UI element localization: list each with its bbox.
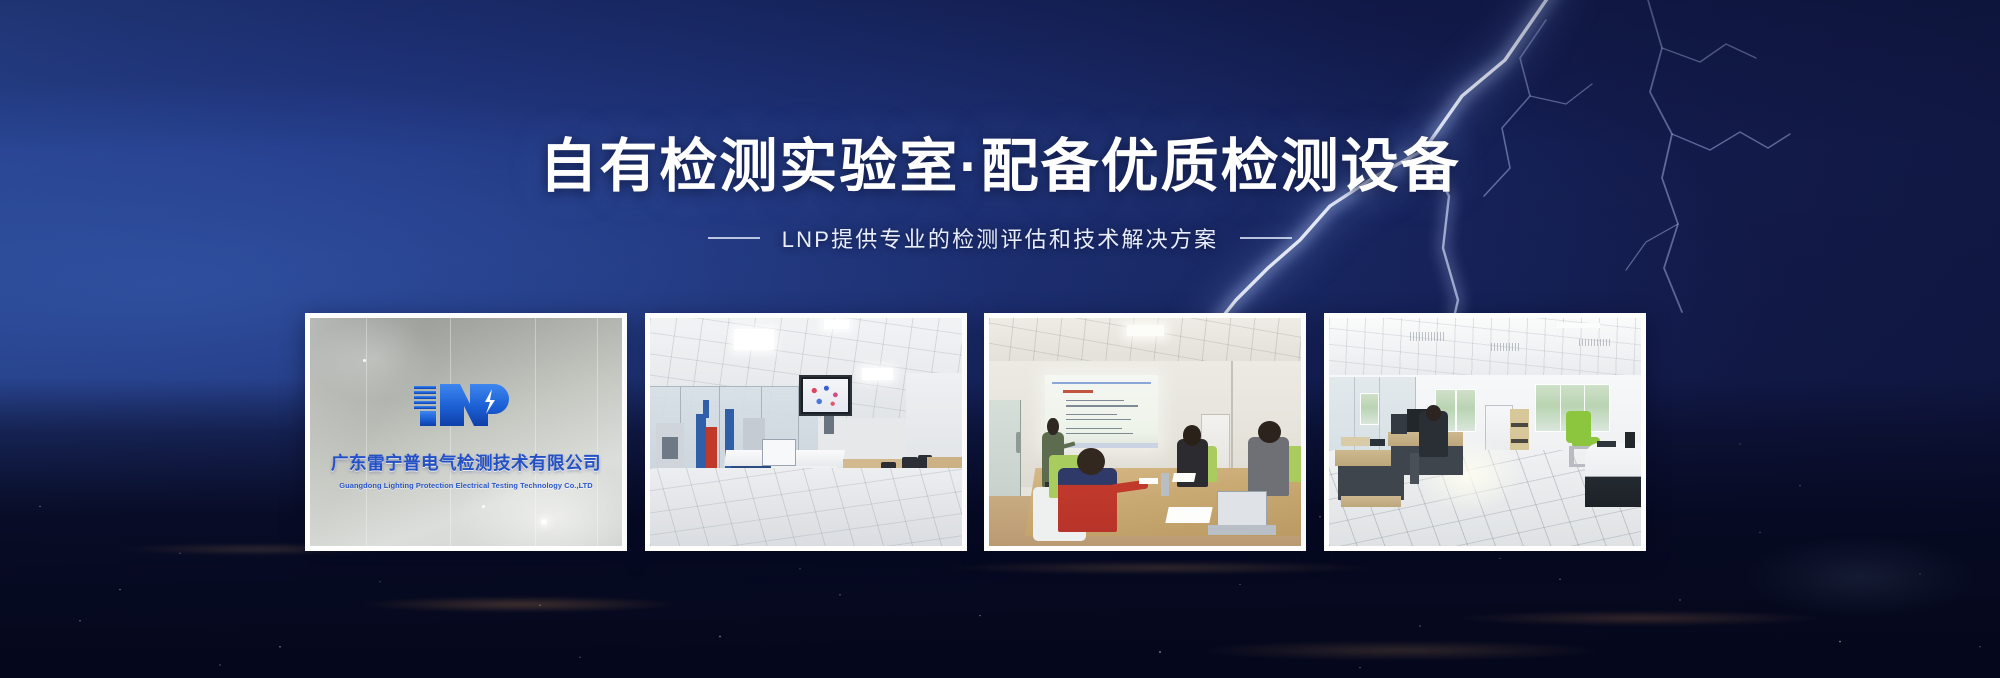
shelf-item (1511, 423, 1528, 428)
ceiling-light-panel (1127, 325, 1164, 336)
table-documents (1165, 507, 1212, 523)
photo-company-signage: 广东雷宁普电气检测技术有限公司 Guangdong Lighting Prote… (310, 318, 622, 546)
lnp-logo-icon (412, 380, 520, 432)
desk-documents (1341, 437, 1369, 446)
table-documents (1139, 478, 1158, 485)
wall-panel-seam (535, 318, 536, 546)
wall-highlight-speck (541, 519, 547, 525)
headline-container: 自有检测实验室·配备优质检测设备 (0, 136, 2000, 197)
signage-chinese-text: 广东雷宁普电气检测技术有限公司 (331, 450, 601, 475)
test-equipment-red-unit (706, 427, 717, 468)
desk-equipment (1370, 439, 1386, 446)
office-worker-head (1426, 405, 1442, 421)
wall-panel-seam (366, 318, 367, 546)
wall-panel-seam (597, 318, 598, 546)
attendee-front-head (1077, 448, 1105, 475)
tv-screen-content (803, 379, 848, 412)
lab-tiled-floor (650, 468, 962, 546)
gallery-card-training-meeting-room[interactable] (984, 313, 1306, 551)
divider-line-right-icon (1240, 237, 1292, 239)
photo-open-office (1329, 318, 1641, 546)
ceiling-light-panel (824, 320, 849, 329)
tv-mount-stem (824, 416, 833, 434)
test-equipment (662, 437, 678, 460)
photo-gallery: 广东雷宁普电气检测技术有限公司 Guangdong Lighting Prote… (305, 313, 1646, 551)
slide-body-line (1066, 405, 1138, 407)
presenter-head (1047, 418, 1058, 435)
meeting-room-door (989, 400, 1020, 509)
ceiling-light-panel (734, 329, 775, 350)
window-mullion (1560, 385, 1562, 431)
test-equipment-blue-column (696, 414, 705, 473)
attendee-front-body (1058, 468, 1117, 532)
ceiling-light-panel (862, 368, 893, 379)
office-desk-edge (1341, 496, 1400, 507)
wall-panel-seam (450, 318, 451, 546)
desktop-monitor (1391, 414, 1407, 435)
photo-testing-laboratory (650, 318, 962, 546)
attendee-right-body (1248, 437, 1289, 496)
slide-title-line (1063, 390, 1092, 393)
counter-equipment (1597, 441, 1616, 447)
ceiling-air-vent (1410, 332, 1444, 341)
wall-sheen (310, 318, 622, 546)
laptop-screen (1217, 491, 1267, 527)
ceiling-light-strip (1557, 323, 1601, 329)
slide-body-line (1066, 428, 1122, 430)
wall-highlight-speck (482, 505, 485, 508)
table-documents (1172, 473, 1196, 482)
signage-english-text: Guangdong Lighting Protection Electrical… (339, 481, 592, 490)
gallery-card-testing-laboratory[interactable] (645, 313, 967, 551)
office-chair-back (1410, 453, 1419, 485)
hero-banner: 自有检测实验室·配备优质检测设备 LNP提供专业的检测评估和技术解决方案 (0, 0, 2000, 678)
laptop-base (1208, 525, 1277, 534)
slide-body-line (1066, 433, 1133, 435)
ceiling-air-vent (1579, 339, 1610, 347)
test-equipment-blue-column (703, 400, 709, 418)
window-mullion (1455, 390, 1457, 431)
photo-training-meeting-room (989, 318, 1301, 546)
slide-body-line (1066, 419, 1131, 421)
page-subtitle: LNP提供专业的检测评估和技术解决方案 (782, 222, 1219, 254)
subheadline-container: LNP提供专业的检测评估和技术解决方案 (0, 222, 2000, 254)
slide-body-line (1066, 400, 1124, 402)
console-monitor (762, 439, 796, 466)
reception-counter (1585, 443, 1641, 507)
ceiling-air-vent (1491, 343, 1519, 351)
thermos-cup (1161, 473, 1169, 496)
office-window (1360, 393, 1379, 425)
slide-header-bar (1052, 382, 1151, 384)
slide-body-line (1066, 414, 1118, 416)
gallery-card-company-signage[interactable]: 广东雷宁普电气检测技术有限公司 Guangdong Lighting Prote… (305, 313, 627, 551)
divider-line-left-icon (708, 237, 760, 239)
attendee-mid-head (1183, 425, 1202, 446)
counter-equipment (1625, 432, 1634, 448)
gallery-card-open-office[interactable] (1324, 313, 1646, 551)
door-handle (1016, 432, 1021, 453)
wall-mounted-tv (799, 375, 852, 416)
page-title: 自有检测实验室·配备优质检测设备 (539, 136, 1460, 197)
